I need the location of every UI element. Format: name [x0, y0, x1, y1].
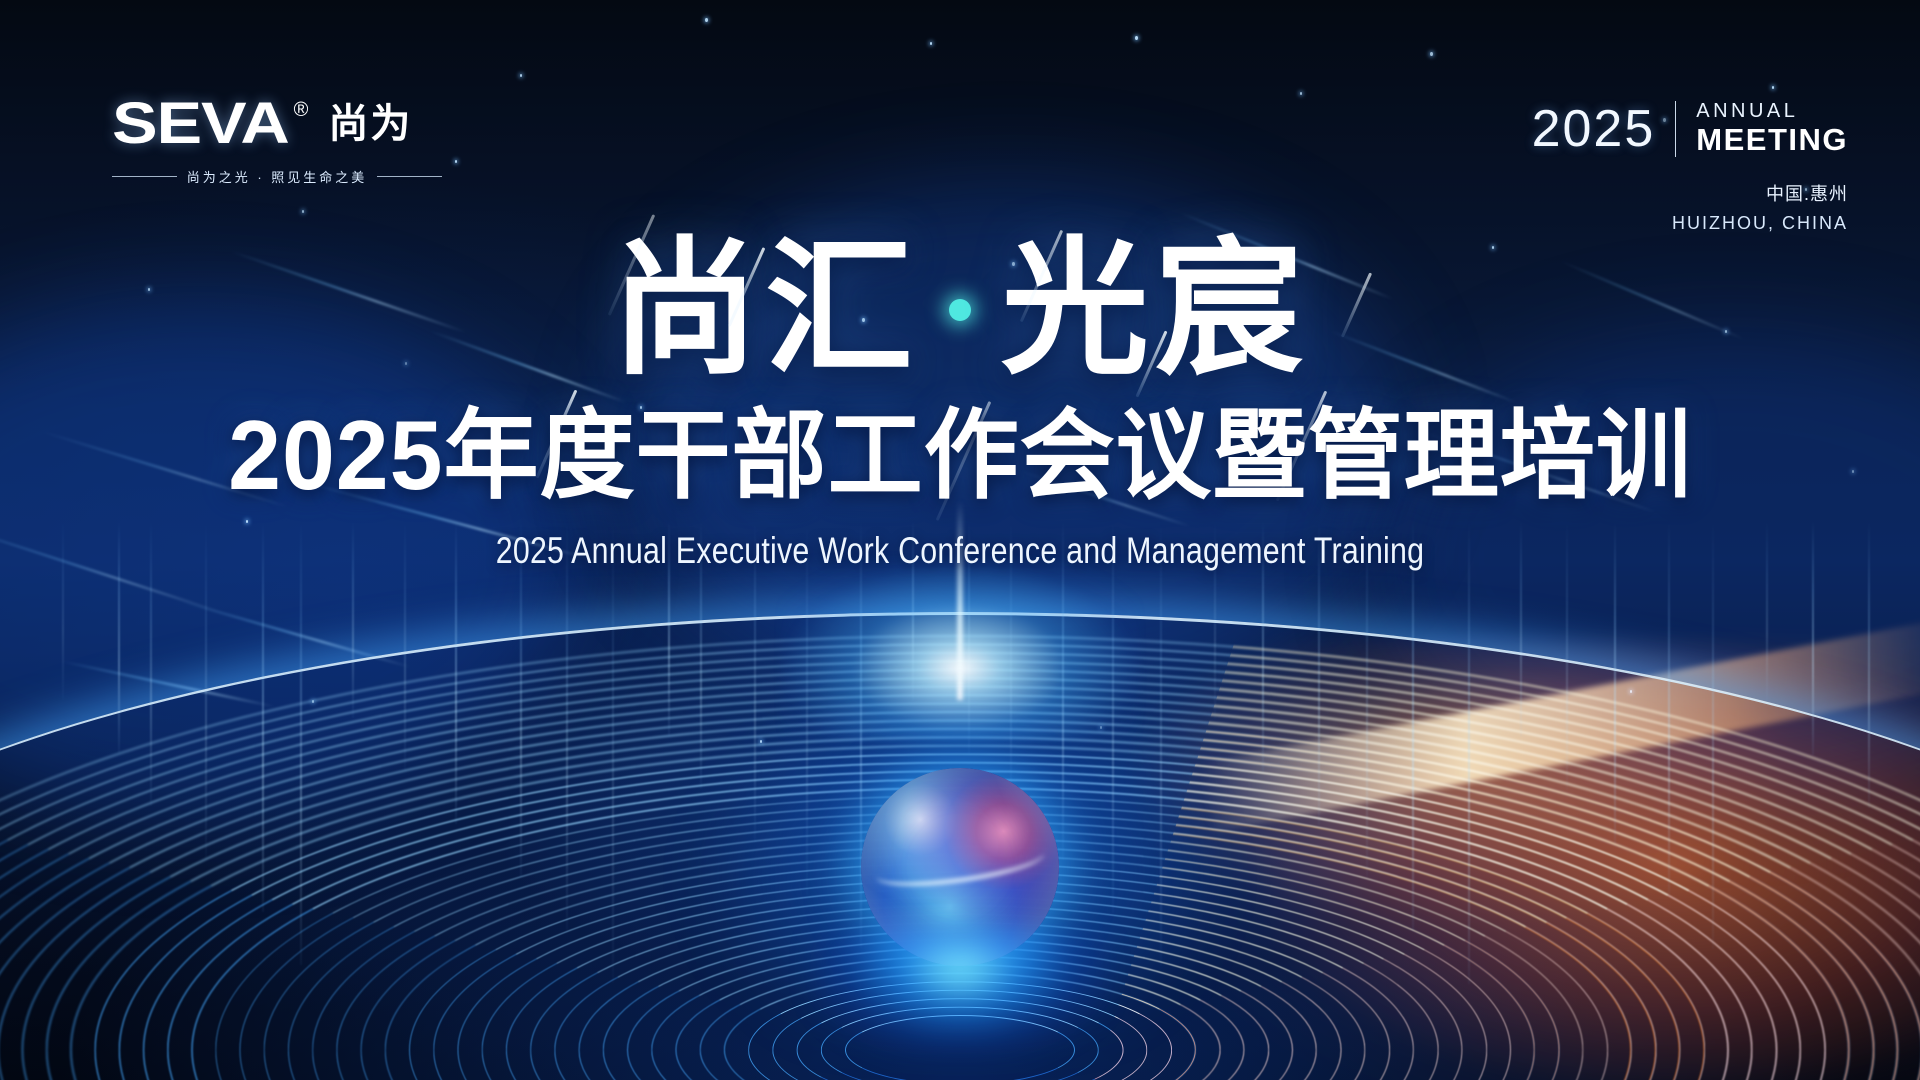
star-particle	[302, 210, 304, 213]
ripple-ring-warm	[361, 846, 1560, 1080]
ripple-ring	[288, 821, 1632, 1080]
ripple-ring-warm	[0, 719, 1920, 1080]
ripple-ring-warm	[143, 770, 1778, 1080]
vertical-beam	[1112, 520, 1114, 913]
ripple-ring-warm	[312, 829, 1608, 1080]
meeting-labels: ANNUAL MEETING	[1696, 100, 1848, 158]
ripple-ring	[554, 914, 1365, 1080]
vertical-beam	[1668, 520, 1670, 896]
meeting-annual-label: ANNUAL	[1696, 100, 1798, 122]
warm-orange-wash	[1080, 640, 1920, 1080]
ripple-ring-warm	[94, 753, 1826, 1080]
ripple-ring-warm	[433, 871, 1487, 1080]
ripple-ring	[239, 804, 1680, 1080]
ripple-ring	[0, 677, 1920, 1080]
tagline-rule-left	[112, 176, 177, 177]
ripple-ring	[0, 703, 1920, 1080]
vertical-beam	[806, 520, 808, 895]
hero-title-left: 尚汇	[611, 236, 919, 384]
annual-meeting-badge: 2025 ANNUAL MEETING 中国.惠州 HUIZHOU, CHINA	[1532, 100, 1848, 234]
ripple-ring	[724, 973, 1196, 1080]
ripple-ring	[700, 964, 1221, 1080]
ripple-ring-warm	[675, 956, 1244, 1080]
ripple-ring	[215, 795, 1705, 1080]
disc-horizon-rim	[0, 612, 1920, 1080]
title-slash	[1341, 272, 1372, 337]
sphere-base-glow	[810, 930, 1110, 1060]
ripple-ring	[482, 888, 1439, 1080]
ripple-ring	[361, 846, 1560, 1080]
ripple-ring-warm	[0, 694, 1920, 1080]
ripple-ring-warm	[821, 1007, 1099, 1080]
brand-tagline: 尚为之光 · 照见生命之美	[112, 167, 442, 186]
vertical-beam	[566, 520, 568, 930]
ripple-ring	[70, 745, 1850, 1080]
ripple-ring	[0, 643, 1920, 1080]
ripple-ring	[191, 787, 1729, 1080]
ripple-ring-warm	[506, 897, 1414, 1080]
meeting-divider	[1675, 101, 1676, 157]
star-particle	[760, 740, 762, 743]
star-particle	[930, 42, 932, 45]
ripple-disc-rings	[0, 600, 1920, 1080]
ripple-ring-warm	[603, 931, 1317, 1080]
ripple-ring	[167, 779, 1753, 1080]
ripple-ring-warm	[579, 922, 1342, 1080]
meeting-year: 2025	[1532, 103, 1656, 155]
star-particle	[1300, 92, 1302, 95]
ripple-ring-warm	[530, 905, 1390, 1080]
meeting-location-en: HUIZHOU, CHINA	[1532, 213, 1848, 234]
ripple-ring	[0, 652, 1920, 1080]
ripple-ring-warm	[0, 652, 1920, 1080]
vertical-beam	[860, 520, 862, 948]
star-particle	[312, 700, 314, 703]
vertical-beam	[1160, 520, 1162, 966]
hero-title: 尚汇 光宸	[611, 236, 1309, 384]
meeting-meeting-label: MEETING	[1696, 122, 1848, 157]
ripple-ring-warm	[724, 973, 1196, 1080]
ripple-ring	[118, 762, 1801, 1080]
center-light-burst	[780, 560, 1140, 740]
star-particle	[1135, 36, 1138, 40]
ripple-ring	[579, 922, 1342, 1080]
ripple-ring	[0, 711, 1920, 1080]
ripple-ring-warm	[797, 998, 1124, 1080]
ripple-ring-warm	[0, 643, 1920, 1080]
ripple-ring-warm	[288, 821, 1632, 1080]
star-particle	[1430, 52, 1433, 56]
ripple-ring-warm	[70, 745, 1850, 1080]
ripple-ring-warm	[239, 804, 1680, 1080]
ripple-ring-warm	[0, 635, 1920, 1080]
star-particle	[1772, 86, 1774, 89]
warm-rim-highlight	[1200, 618, 1920, 832]
ripple-ring	[312, 829, 1608, 1080]
ripple-ring-warm	[167, 779, 1753, 1080]
tagline-rule-right	[377, 176, 442, 177]
ripple-ring-warm	[482, 888, 1439, 1080]
hero-separator-dot	[949, 299, 971, 321]
seva-chinese-name: 尚为	[328, 104, 412, 144]
ripple-ring-warm	[46, 736, 1875, 1080]
hero-title-right: 光宸	[1001, 236, 1309, 384]
ripple-ring-warm	[457, 880, 1462, 1080]
ripple-ring	[797, 998, 1124, 1080]
ripple-ring	[143, 770, 1778, 1080]
seva-wordmark: SEVA	[112, 95, 289, 153]
ripple-ring	[0, 719, 1920, 1080]
ripple-ring	[0, 686, 1920, 1080]
ripple-ring-warm	[748, 981, 1172, 1080]
ripple-ring	[675, 956, 1244, 1080]
ripple-ring-warm	[700, 964, 1221, 1080]
ripple-ring	[627, 939, 1293, 1080]
ripple-ring	[21, 728, 1898, 1080]
hero-subtitle-en: 2025 Annual Executive Work Conference an…	[173, 530, 1747, 572]
vertical-beam	[300, 520, 302, 965]
ripple-ring	[409, 863, 1511, 1080]
ripple-ring-warm	[0, 686, 1920, 1080]
ripple-ring	[748, 981, 1172, 1080]
ripple-ring	[0, 660, 1920, 1080]
ripple-ring	[603, 931, 1317, 1080]
light-streak	[60, 660, 276, 708]
vertical-beam	[612, 520, 614, 983]
ripple-disc	[0, 600, 1920, 1080]
ripple-ring	[94, 753, 1826, 1080]
ripple-ring-warm	[651, 947, 1269, 1080]
iridescent-sphere	[861, 768, 1059, 966]
vertical-beam	[1412, 520, 1414, 931]
hero-block: 尚汇 光宸 2025年度干部工作会议暨管理培训 2025 Annual Exec…	[0, 236, 1920, 572]
ripple-ring	[385, 855, 1535, 1080]
sphere-swirl-highlight	[873, 836, 1046, 893]
ripple-ring-warm	[118, 762, 1801, 1080]
vertical-beam	[1712, 520, 1714, 949]
ripple-ring-warm	[191, 787, 1729, 1080]
ripple-ring-warm	[215, 795, 1705, 1080]
ripple-ring	[821, 1007, 1099, 1080]
ripple-ring-warm	[385, 855, 1535, 1080]
vertical-light-beams	[0, 520, 1920, 1080]
ripple-ring-warm	[772, 990, 1147, 1080]
conference-banner: SEVA ® 尚为 尚为之光 · 照见生命之美 2025 ANNUAL MEET…	[0, 0, 1920, 1080]
ripple-ring	[433, 871, 1487, 1080]
vertical-beam	[520, 520, 522, 877]
star-particle	[1630, 690, 1632, 693]
vertical-beam	[1468, 520, 1470, 984]
hero-subtitle-cn: 2025年度干部工作会议暨管理培训	[29, 406, 1891, 504]
ripple-ring	[651, 947, 1269, 1080]
registered-trademark-icon: ®	[294, 99, 309, 122]
ripple-ring-warm	[0, 711, 1920, 1080]
ripple-rings-warm	[0, 600, 1920, 1080]
ripple-ring	[772, 990, 1147, 1080]
meeting-location-cn: 中国.惠州	[1532, 180, 1848, 206]
ripple-ring	[845, 1015, 1075, 1080]
vertical-beam	[262, 520, 264, 912]
ripple-ring	[0, 669, 1920, 1080]
star-particle	[705, 18, 708, 22]
ripple-ring	[264, 812, 1657, 1080]
seva-logo: SEVA ® 尚为 尚为之光 · 照见生命之美	[112, 95, 472, 186]
ripple-ring	[0, 635, 1920, 1080]
ripple-ring-warm	[554, 914, 1365, 1080]
ripple-ring	[0, 694, 1920, 1080]
ripple-ring-warm	[0, 677, 1920, 1080]
vertical-beam	[1366, 520, 1368, 878]
star-particle	[1100, 726, 1102, 729]
sphere-halo	[700, 690, 1220, 1030]
star-particle	[520, 74, 522, 77]
logo-row: SEVA ® 尚为	[112, 95, 472, 153]
ripple-ring	[336, 838, 1583, 1080]
tagline-text: 尚为之光 · 照见生命之美	[187, 167, 368, 186]
ripple-ring-warm	[627, 939, 1293, 1080]
ripple-ring-warm	[21, 728, 1898, 1080]
meeting-badge-top: 2025 ANNUAL MEETING	[1532, 100, 1848, 158]
ripple-ring-warm	[0, 703, 1920, 1080]
ripple-ring	[530, 905, 1390, 1080]
ripple-ring-warm	[0, 660, 1920, 1080]
ripple-ring-warm	[0, 669, 1920, 1080]
ripple-ring	[506, 897, 1414, 1080]
ripple-ring-warm	[409, 863, 1511, 1080]
ripple-ring	[46, 736, 1875, 1080]
ripple-ring	[457, 880, 1462, 1080]
ripple-ring-warm	[845, 1015, 1075, 1080]
ripple-ring-warm	[336, 838, 1583, 1080]
ripple-ring-warm	[264, 812, 1657, 1080]
light-streak	[180, 600, 411, 668]
